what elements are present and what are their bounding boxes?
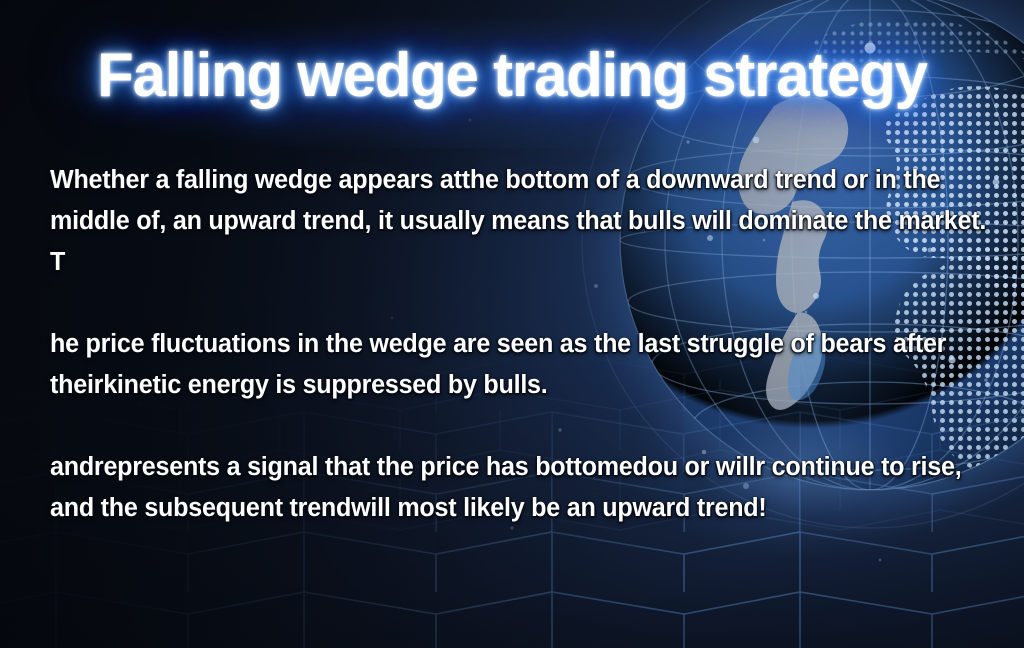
body-text-block: Whether a falling wedge appears atthe bo…: [50, 160, 1002, 529]
slide-canvas: Falling wedge trading strategy Whether a…: [0, 0, 1024, 648]
paragraph-1: Whether a falling wedge appears atthe bo…: [50, 160, 988, 283]
paragraph-3: andrepresents a signal that the price ha…: [50, 447, 988, 529]
page-title: Falling wedge trading strategy: [18, 40, 1006, 112]
paragraph-2: he price fluctuations in the wedge are s…: [50, 324, 988, 406]
slide-content: Falling wedge trading strategy Whether a…: [0, 0, 1024, 648]
